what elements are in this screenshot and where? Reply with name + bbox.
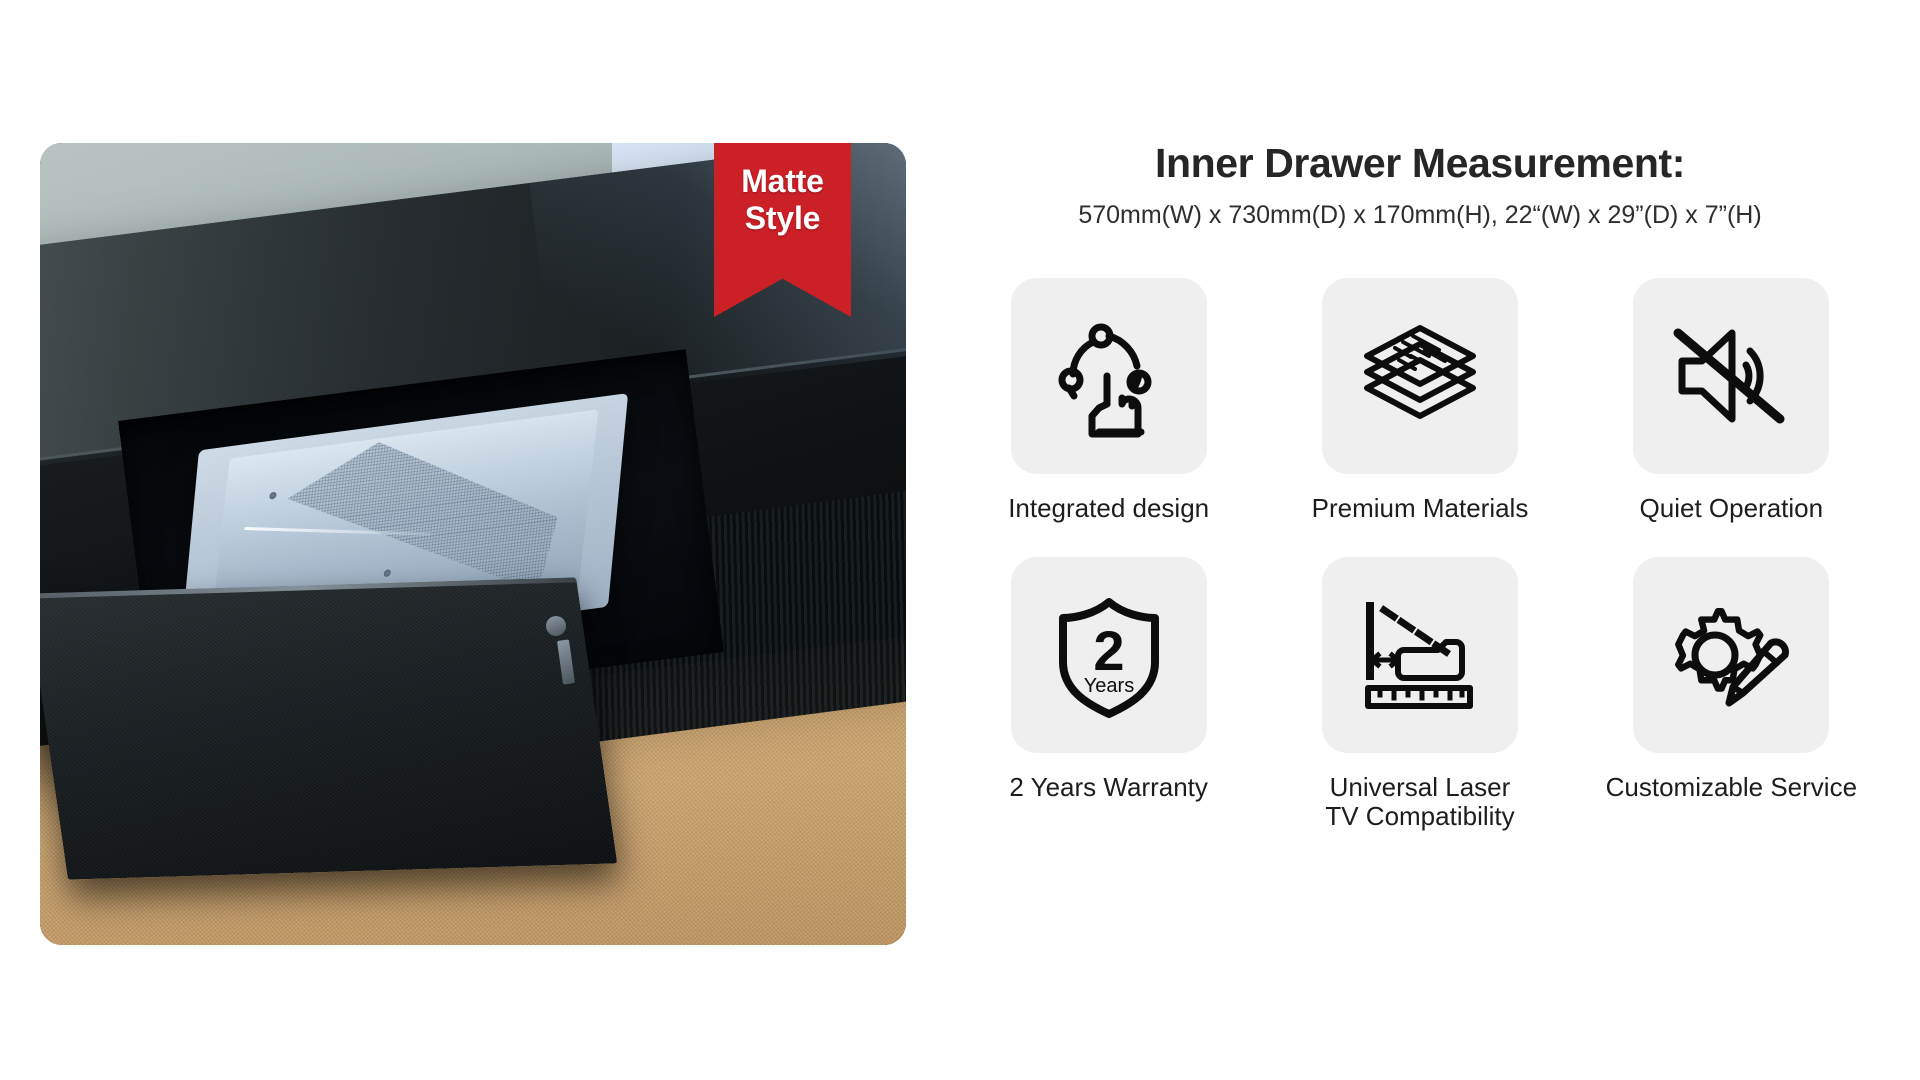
hand-tap-network-icon xyxy=(1047,314,1171,438)
feature-warranty: 2 Years 2 Years Warranty xyxy=(974,557,1244,831)
feature-quiet-operation: Quiet Operation xyxy=(1596,278,1866,523)
feature-icon-tile xyxy=(1011,278,1207,474)
shield-warranty-icon: 2 Years xyxy=(1047,592,1171,718)
feature-integrated-design: Integrated design xyxy=(974,278,1244,523)
ribbon-line-1: Matte xyxy=(714,143,851,200)
shield-number: 2 xyxy=(1093,619,1124,682)
feature-icon-tile xyxy=(1633,278,1829,474)
photo-drawer-knob xyxy=(546,616,566,636)
photo-projector-sensor xyxy=(268,491,276,499)
feature-label: Universal Laser TV Compatibility xyxy=(1325,773,1514,831)
feature-grid: Integrated design xyxy=(960,278,1880,831)
photo-projector-screw xyxy=(383,568,391,576)
feature-customizable-service: Customizable Service xyxy=(1596,557,1866,831)
drawer-dimensions-text: 570mm(W) x 730mm(D) x 170mm(H), 22“(W) x… xyxy=(960,201,1880,230)
feature-premium-materials: Premium Materials xyxy=(1285,278,1555,523)
shield-word: Years xyxy=(1083,675,1133,697)
projector-throw-ruler-icon xyxy=(1356,594,1484,716)
feature-label: 2 Years Warranty xyxy=(1009,773,1207,802)
feature-label: Premium Materials xyxy=(1312,494,1529,523)
layers-stack-icon xyxy=(1355,316,1485,436)
ribbon-line-2: Style xyxy=(714,200,851,237)
photo-drawer-front-panel xyxy=(40,577,616,879)
infographic-page: Matte Style Inner Drawer Measurement: 57… xyxy=(0,0,1920,1080)
spec-feature-panel: Inner Drawer Measurement: 570mm(W) x 730… xyxy=(960,140,1880,831)
feature-icon-tile xyxy=(1322,278,1518,474)
feature-label: Customizable Service xyxy=(1606,773,1857,802)
gear-pencil-icon xyxy=(1667,593,1795,717)
feature-laser-tv-compatibility: Universal Laser TV Compatibility xyxy=(1285,557,1555,831)
speaker-muted-icon xyxy=(1668,317,1794,435)
feature-label: Quiet Operation xyxy=(1640,494,1824,523)
feature-icon-tile: 2 Years xyxy=(1011,557,1207,753)
feature-icon-tile xyxy=(1633,557,1829,753)
product-photo: Matte Style xyxy=(40,143,906,945)
page-title: Inner Drawer Measurement: xyxy=(960,140,1880,187)
feature-label: Integrated design xyxy=(1008,494,1209,523)
feature-icon-tile xyxy=(1322,557,1518,753)
